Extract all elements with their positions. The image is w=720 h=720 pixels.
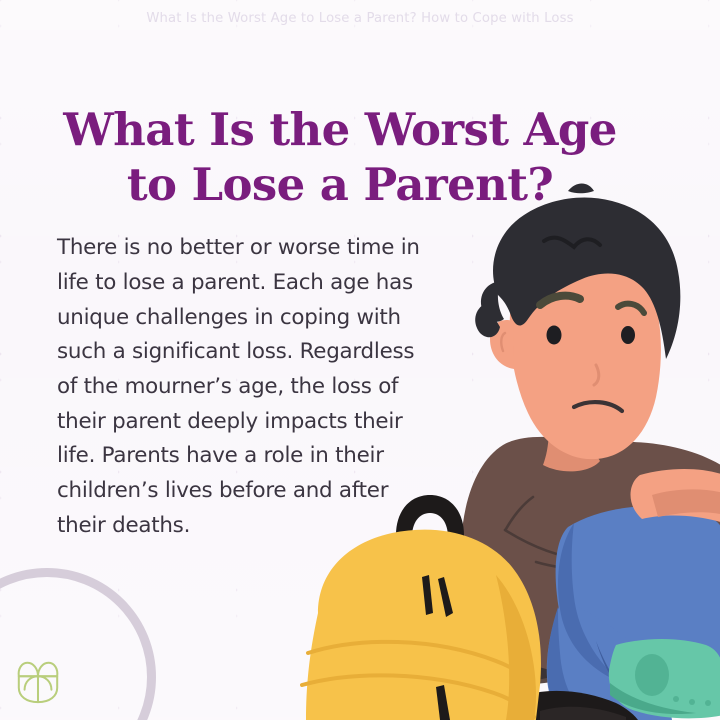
sneaker-ankle-detail <box>635 654 669 696</box>
eye-left <box>547 326 562 345</box>
lotus-petal-right <box>38 663 57 676</box>
hair-cowlick <box>568 184 594 194</box>
body-paragraph: There is no better or worse time in life… <box>57 231 437 543</box>
poster-canvas: What Is the Worst Age to Lose a Parent? … <box>0 0 720 720</box>
sneaker-eyelet-3 <box>705 700 711 706</box>
sneaker-eyelet-1 <box>673 696 679 702</box>
lotus-inner-right <box>38 676 51 689</box>
page-header-title: What Is the Worst Age to Lose a Parent? … <box>0 11 720 26</box>
eye-right <box>621 326 635 344</box>
sneaker-eyelet-2 <box>689 699 695 705</box>
page-title-line-1: What Is the Worst Age <box>63 103 617 156</box>
lotus-flower-icon[interactable] <box>13 658 63 706</box>
lotus-petal-left <box>19 663 38 676</box>
lotus-inner-left <box>25 676 38 689</box>
